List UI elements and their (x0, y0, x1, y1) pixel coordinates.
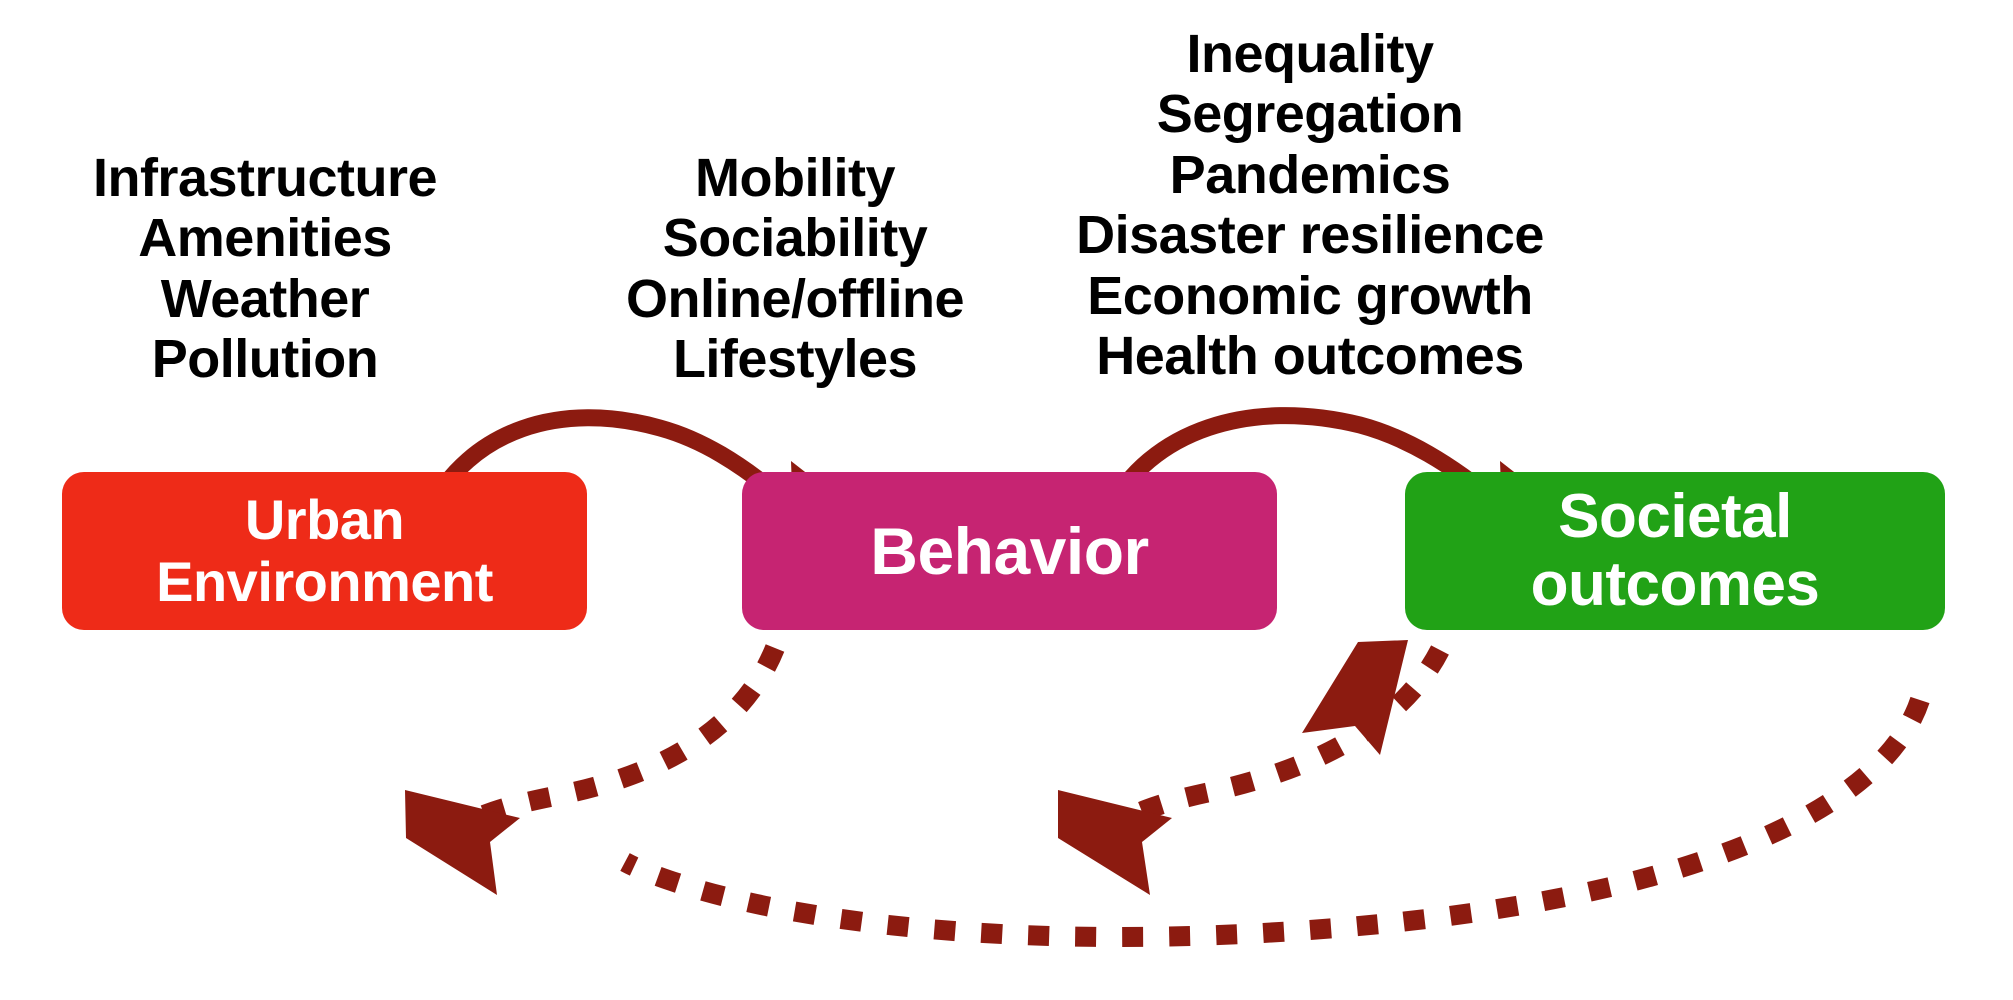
node-societal-outcomes[interactable]: Societal outcomes (1405, 472, 1945, 630)
node-behavior[interactable]: Behavior (742, 472, 1277, 630)
arrow-societal-to-behavior-feedback (1058, 650, 1440, 895)
attribute-label: Online/offline (585, 269, 1005, 329)
node-label-line: Environment (156, 550, 493, 613)
arrow-societal-to-urban-feedback (625, 640, 1920, 937)
node-label-line: outcomes (1531, 550, 1820, 619)
attributes-behavior: Mobility Sociability Online/offline Life… (585, 148, 1005, 390)
attribute-label: Pandemics (1040, 145, 1580, 205)
node-label-urban-environment: Urban Environment (62, 489, 587, 612)
attribute-label: Economic growth (1040, 266, 1580, 326)
node-label-societal-outcomes: Societal outcomes (1405, 483, 1945, 619)
attribute-label: Sociability (585, 208, 1005, 268)
arrow-behavior-to-urban-feedback (405, 648, 775, 895)
attributes-urban-environment: Infrastructure Amenities Weather Polluti… (40, 148, 490, 390)
attribute-label: Mobility (585, 148, 1005, 208)
attribute-label: Segregation (1040, 84, 1580, 144)
node-urban-environment[interactable]: Urban Environment (62, 472, 587, 630)
attribute-label: Health outcomes (1040, 326, 1580, 386)
attribute-label: Amenities (40, 208, 490, 268)
attribute-label: Pollution (40, 329, 490, 389)
node-label-line: Societal (1558, 482, 1792, 551)
node-label-line: Urban (245, 488, 404, 551)
diagram-canvas: Infrastructure Amenities Weather Polluti… (0, 0, 2013, 1000)
attribute-label: Inequality (1040, 24, 1580, 84)
attributes-societal-outcomes: Inequality Segregation Pandemics Disaste… (1040, 24, 1580, 387)
attribute-label: Infrastructure (40, 148, 490, 208)
attribute-label: Lifestyles (585, 329, 1005, 389)
node-label-behavior: Behavior (742, 515, 1277, 588)
attribute-label: Disaster resilience (1040, 205, 1580, 265)
attribute-label: Weather (40, 269, 490, 329)
